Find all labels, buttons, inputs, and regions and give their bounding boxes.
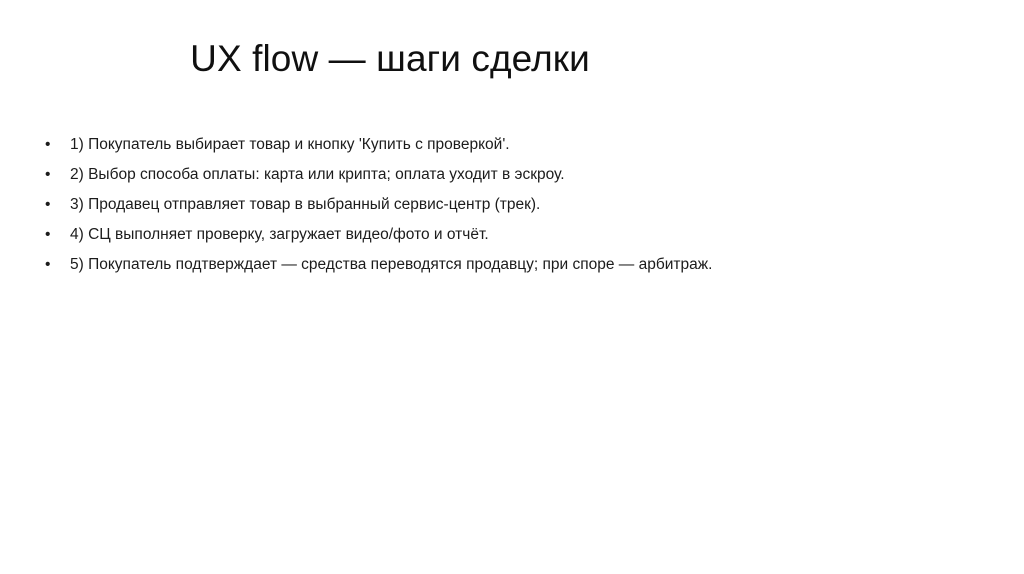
list-item-text: 3) Продавец отправляет товар в выбранный…: [70, 193, 740, 216]
slide: UX flow — шаги сделки • 1) Покупатель вы…: [0, 0, 1024, 574]
list-item: • 3) Продавец отправляет товар в выбранн…: [40, 193, 740, 216]
list-item-text: 4) СЦ выполняет проверку, загружает виде…: [70, 223, 740, 246]
bullet-point-icon: •: [45, 223, 59, 246]
title-block: UX flow — шаги сделки: [50, 38, 730, 81]
body-content-block: • 1) Покупатель выбирает товар и кнопку …: [40, 133, 740, 276]
list-item: • 4) СЦ выполняет проверку, загружает ви…: [40, 223, 740, 246]
list-item: • 5) Покупатель подтверждает — средства …: [40, 253, 740, 276]
list-item: • 1) Покупатель выбирает товар и кнопку …: [40, 133, 740, 156]
bullet-point-icon: •: [45, 193, 59, 216]
list-item-text: 1) Покупатель выбирает товар и кнопку 'К…: [70, 133, 740, 156]
bullet-point-icon: •: [45, 163, 59, 186]
list-item-text: 2) Выбор способа оплаты: карта или крипт…: [70, 163, 740, 186]
bullet-point-icon: •: [45, 133, 59, 156]
bullet-point-icon: •: [45, 253, 59, 276]
bullet-list: • 1) Покупатель выбирает товар и кнопку …: [40, 133, 740, 276]
list-item-text: 5) Покупатель подтверждает — средства пе…: [70, 253, 740, 276]
list-item: • 2) Выбор способа оплаты: карта или кри…: [40, 163, 740, 186]
page-title: UX flow — шаги сделки: [50, 38, 730, 81]
